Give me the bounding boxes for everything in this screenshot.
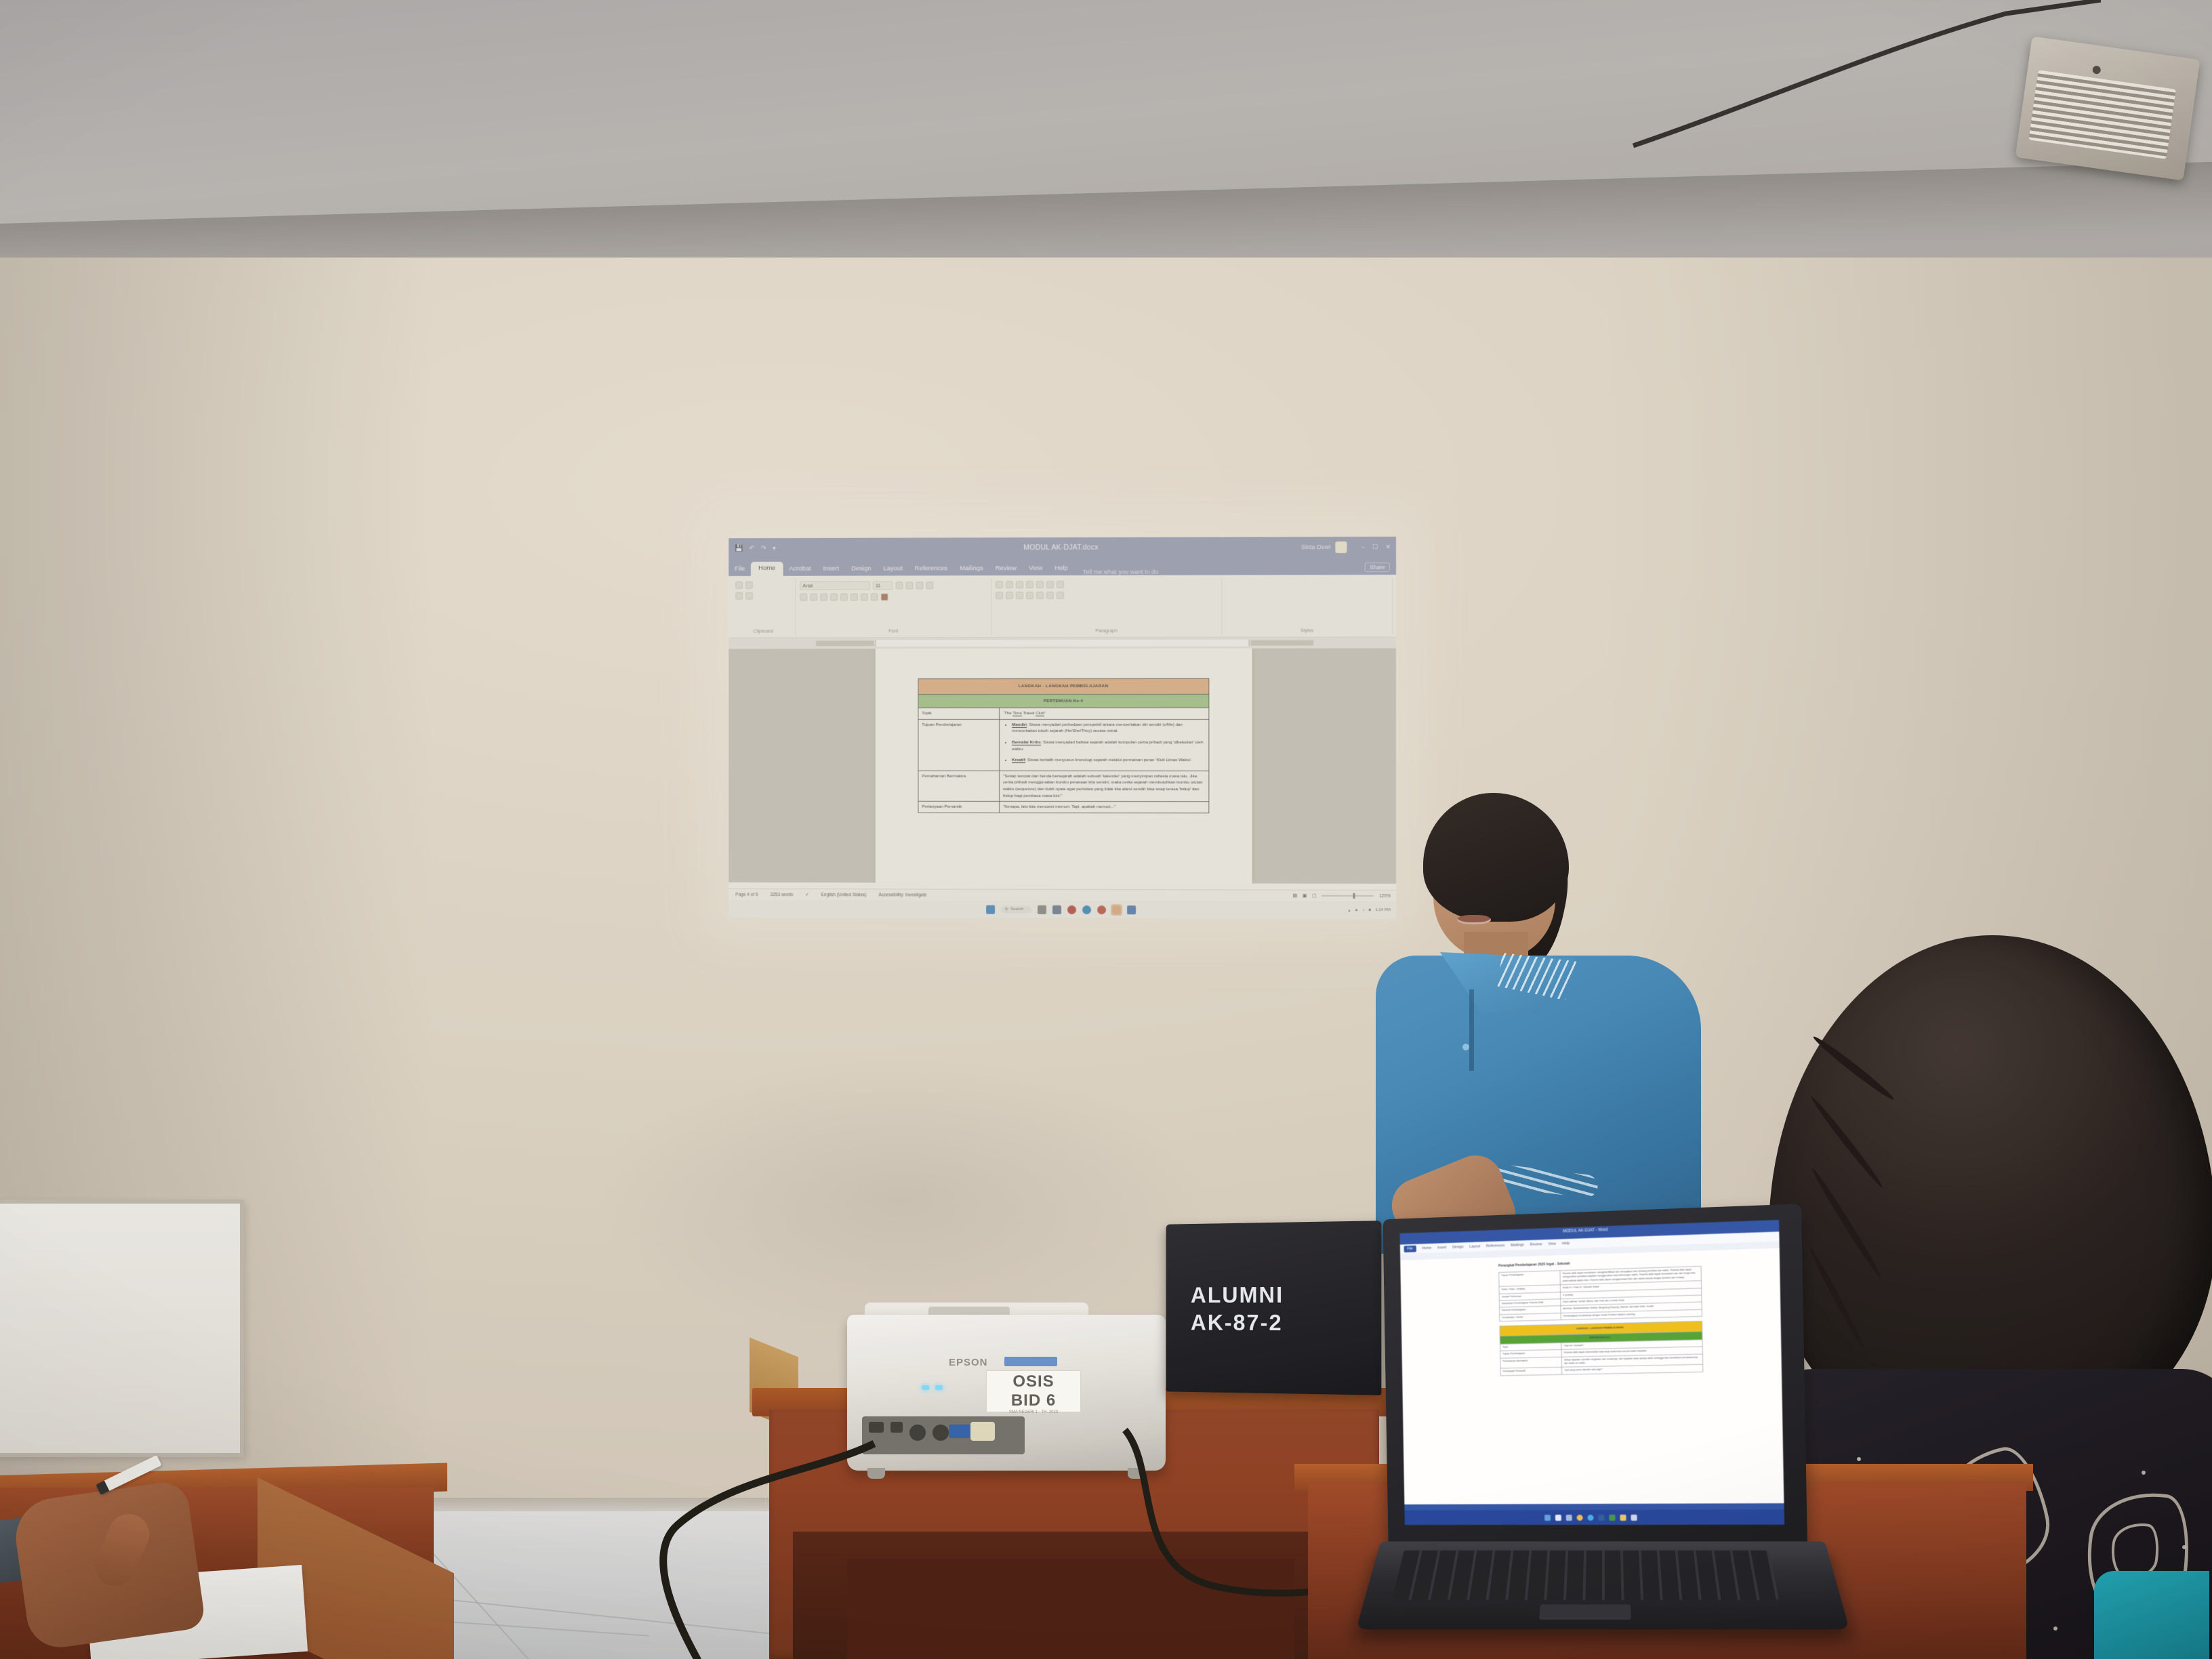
ls-label-2: Pemahaman Bermakna [1500,1357,1562,1368]
power-led-icon [922,1385,929,1390]
battery-icon[interactable]: ■ [1369,908,1372,912]
tab-acrobat[interactable]: Acrobat [783,563,817,576]
mouth [1457,915,1491,924]
table-row: Tujuan Pembelajaran Mandiri: Siswa menya… [918,719,1209,771]
laptop-tab-mailings[interactable]: Mailings [1511,1243,1524,1248]
projector-port-panel [862,1416,1025,1454]
language-indicator[interactable]: English (United States) [821,893,867,897]
laptop-tab-file[interactable]: File [1404,1246,1416,1252]
bullet-lead-1: Mandiri [1012,722,1027,728]
laptop-excel-icon[interactable] [1609,1514,1615,1520]
table-row: Topik “The Time Travel Club” [918,708,1209,720]
laptop-lid: MODUL AK-DJAT - Word File Home Insert De… [1382,1204,1807,1551]
close-icon[interactable]: ✕ [1385,543,1391,550]
laptop-word-icon[interactable] [1598,1514,1604,1520]
row-value-tujuan: Mandiri: Siswa menyadari perbedaan persp… [1000,719,1209,771]
laptop-chrome-icon[interactable] [1576,1515,1582,1521]
ribbon-tab-strip[interactable]: File Home Acrobat Insert Design Layout R… [729,557,1396,576]
desk-panel [847,1559,1294,1659]
vga-cable-plug [970,1422,995,1441]
tab-view[interactable]: View [1023,562,1048,575]
avatar[interactable] [1335,541,1347,552]
laptop-tab-review[interactable]: Review [1530,1242,1542,1247]
web-layout-icon[interactable]: ▢ [1312,893,1316,899]
search-placeholder: Search [1010,907,1023,912]
lesson-plan-table: LANGKAH - LANGKAH PEMBELAJARAN PERTEMUAN… [918,678,1209,813]
print-layout-icon[interactable]: ▣ [1303,893,1307,899]
shading-icon[interactable] [1046,592,1054,599]
ribbon-group-styles[interactable]: AaBbCcDNormal AaBbCcDNo Spac... AaBbCcHe… [1222,577,1393,635]
numbering-icon[interactable] [1006,581,1013,588]
word-count[interactable]: 3253 words [770,893,793,897]
window-controls[interactable]: – ☐ ✕ [1361,543,1391,550]
tab-design[interactable]: Design [845,563,877,576]
shirt-placket [1469,989,1474,1071]
header-langkah: LANGKAH - LANGKAH PEMBELAJARAN [918,678,1209,694]
closed-laptop-lid: ALUMNI AK-87-2 [1166,1221,1382,1395]
underline-icon[interactable] [820,594,827,601]
copy-icon[interactable] [735,592,743,600]
laptop-start-icon[interactable] [1544,1515,1551,1521]
decrease-indent-icon[interactable] [1026,581,1033,588]
tab-references[interactable]: References [909,562,954,575]
group-label-paragraph: Paragraph [991,629,1221,634]
search-input[interactable]: ⚲Search [1001,905,1031,913]
bullet-text-1: : Siswa menyadari perbedaan perspektif a… [1012,722,1183,734]
row-value-pemahaman: "Setiap tempat dan benda bersejarah adal… [1000,771,1209,802]
row-label-pemantik: Pertanyaan Pemantik [918,802,1000,813]
ls-label-3: Pertanyaan Pemantik [1500,1368,1562,1376]
row-label-tujuan: Tujuan Pembelajaran [918,719,1000,771]
tell-me-search[interactable]: Tell me what you want to do [1074,569,1158,575]
tab-file[interactable]: File [729,563,751,576]
explorer-icon[interactable] [1127,905,1136,914]
windows-taskbar[interactable]: ⚲Search ▴ ▲ ♪ ■ 1:24 PM [729,900,1396,919]
show-marks-icon[interactable] [1057,581,1064,588]
borders-icon[interactable] [1057,592,1064,599]
laptop-tab-view[interactable]: View [1548,1242,1556,1246]
text-effects-icon[interactable] [861,593,868,600]
format-painter-icon[interactable] [745,592,753,600]
font-size-box[interactable]: 11 [873,581,893,590]
row-value-pemantik: "Kenapa, lalu kita mencoret memori. Tapi… [1000,802,1209,813]
widgets-icon[interactable] [1052,905,1061,914]
align-center-icon[interactable] [1006,592,1013,599]
strikethrough-icon[interactable] [830,594,838,601]
horizontal-ruler[interactable] [729,637,1396,649]
bullet-text-3: : Siswa berlatih menyusun kronologi seja… [1025,758,1193,762]
align-left-icon[interactable] [996,592,1003,599]
laptop-task-view-icon[interactable] [1565,1515,1572,1521]
highlight-icon[interactable] [871,593,878,600]
subscript-icon[interactable] [840,594,848,601]
tab-layout[interactable]: Layout [877,562,908,575]
table-row: Pertanyaan Pemantik "Kenapa, lalu kita m… [918,802,1209,813]
asset-label-line1: OSIS [987,1371,1080,1390]
lt-label-0: Tujuan Pembelajaran [1499,1271,1561,1287]
table-row-header-orange: LANGKAH - LANGKAH PEMBELAJARAN [918,678,1209,694]
proofing-icon[interactable]: ✓ [805,892,808,897]
grow-font-icon[interactable] [896,581,903,589]
align-right-icon[interactable] [1016,592,1023,599]
font-name-box[interactable]: Arial [800,581,869,590]
tab-home[interactable]: Home [751,562,783,576]
task-view-icon[interactable] [1038,905,1046,914]
table-row-header-green: PERTEMUAN Ke-4 [918,694,1209,708]
bullet-lead-3: Kreatif [1012,758,1025,763]
projector-sticker [1004,1357,1057,1366]
change-case-icon[interactable] [916,581,923,589]
lt-label-5: Pendekatan / Model [1500,1313,1561,1322]
acrobat-icon[interactable] [1067,905,1076,914]
whiteboard [0,1200,244,1457]
ceiling-mounted-unit [2015,36,2200,180]
font-color-icon[interactable] [881,593,888,600]
document-title: MODUL AK-DJAT.docx [729,543,1396,552]
minimize-icon[interactable]: – [1361,543,1365,550]
laptop-settings-icon[interactable] [1631,1514,1637,1520]
laptop-taskbar[interactable] [1405,1509,1784,1525]
laptop-touchpad[interactable] [1539,1605,1631,1620]
projector-brand: EPSON [949,1357,988,1368]
laptop-keyboard[interactable] [1392,1551,1779,1600]
projector-asset-label: OSIS BID 6 SMA NEGERI 1 - TH. 2023 [986,1370,1081,1412]
laptop-explorer-icon[interactable] [1620,1514,1626,1520]
share-button[interactable]: Share [1365,562,1390,572]
lid-sticker: ALUMNI AK-87-2 [1191,1281,1284,1337]
search-icon: ⚲ [1005,907,1008,912]
teal-fabric-accent [2094,1571,2209,1659]
bold-icon[interactable] [800,594,807,601]
shirt-button [1462,1044,1469,1050]
word-title-bar: 💾 ↶ ↷ ▾ MODUL AK-DJAT.docx Sinta Dewi – … [729,537,1396,558]
laptop-table-top: Tujuan PembelajaranPeserta didik dapat m… [1498,1266,1702,1322]
document-page: LANGKAH - LANGKAH PEMBELAJARAN PERTEMUAN… [876,649,1252,884]
account-name[interactable]: Sinta Dewi [1301,544,1330,550]
ribbon-group-editing[interactable]: Find Replace Editing [1393,577,1396,635]
status-led-icon [935,1385,943,1390]
laptop-document-page: Perangkat Pembelajaran 2025 Ingat - Seko… [1400,1248,1784,1511]
laptop-search-icon[interactable] [1555,1515,1561,1521]
bullet-text-2: : Siswa menyadari bahwa sejarah adalah k… [1012,740,1203,752]
asset-label-sub: SMA NEGERI 1 - TH. 2023 [987,1410,1080,1414]
page-indicator[interactable]: Page 4 of 9 [735,892,758,897]
wall-stain [596,1057,1206,1342]
zoom-slider[interactable] [1322,895,1374,897]
open-laptop: MODUL AK-DJAT - Word File Home Insert De… [1380,1212,1814,1659]
superscript-icon[interactable] [851,594,858,601]
volume-icon[interactable]: ♪ [1363,908,1365,912]
bullet-lead-2: Bernalar Kritis [1012,740,1041,745]
multilevel-list-icon[interactable] [1016,581,1023,588]
laptop-table-bottom: LANGKAH - LANGKAH PEMBELAJARAN PERTEMUAN… [1499,1321,1703,1376]
increase-indent-icon[interactable] [1036,581,1044,588]
laptop-screen[interactable]: MODUL AK-DJAT - Word File Home Insert De… [1400,1220,1784,1525]
edge-icon[interactable] [1082,905,1091,914]
bullets-icon[interactable] [996,581,1003,588]
chevron-up-icon[interactable]: ▴ [1349,907,1351,912]
clear-formatting-icon[interactable] [926,581,933,589]
accessibility-indicator[interactable]: Accessibility: Investigate [878,893,926,897]
classroom-photo-scene: 💾 ↶ ↷ ▾ MODUL AK-DJAT.docx Sinta Dewi – … [0,0,2212,1659]
group-label-styles: Styles [1222,628,1392,633]
laptop-tab-references[interactable]: References [1486,1244,1505,1248]
ribbon[interactable]: Clipboard Arial 11 [729,575,1396,638]
italic-icon[interactable] [810,594,817,601]
lid-sticker-line2: AK-87-2 [1191,1309,1284,1336]
list-item: Bernalar Kritis: Siswa menyadari bahwa s… [1012,739,1205,752]
document-canvas[interactable]: LANGKAH - LANGKAH PEMBELAJARAN PERTEMUAN… [729,648,1396,883]
ribbon-group-font[interactable]: Arial 11 Fon [796,578,991,635]
line-spacing-icon[interactable] [1036,592,1044,599]
lid-sticker-line1: ALUMNI [1191,1281,1284,1309]
row-value-topik: “The Time Travel Club” [1000,708,1209,720]
projector-foot-right [1128,1468,1145,1479]
epson-projector: EPSON OSIS BID 6 SMA NEGERI 1 - TH. 2023 [847,1315,1166,1471]
header-pertemuan: PERTEMUAN Ke-4 [918,694,1209,708]
laptop-tab-design[interactable]: Design [1452,1245,1464,1249]
laptop-edge-icon[interactable] [1587,1515,1593,1521]
asset-label-line2: BID 6 [987,1390,1080,1409]
laptop-tab-layout[interactable]: Layout [1469,1244,1480,1248]
tab-mailings[interactable]: Mailings [954,562,989,575]
laptop-tab-help[interactable]: Help [1562,1242,1570,1246]
tab-review[interactable]: Review [989,562,1023,575]
paste-icon[interactable] [735,581,743,589]
start-icon[interactable] [986,905,995,914]
laptop-tab-home[interactable]: Home [1422,1246,1431,1250]
list-item: Mandiri: Siswa menyadari perbedaan persp… [1012,722,1205,735]
word-status-bar[interactable]: Page 4 of 9 3253 words ✓ English (United… [729,888,1396,901]
row-label-topik: Topik [918,708,1000,720]
projector-foot-left [867,1468,885,1479]
group-label-font: Font [796,629,991,634]
projected-screen: 💾 ↶ ↷ ▾ MODUL AK-DJAT.docx Sinta Dewi – … [729,537,1396,919]
group-label-clipboard: Clipboard [731,629,795,634]
sort-icon[interactable] [1046,581,1054,588]
shrink-font-icon[interactable] [906,581,914,589]
row-label-pemahaman: Pemahaman Bermakna [918,771,1000,801]
tab-insert[interactable]: Insert [817,563,846,576]
laptop-tab-insert[interactable]: Insert [1437,1246,1446,1250]
table-row: Pemahaman Bermakna "Setiap tempat dan be… [918,771,1209,802]
hair [1423,793,1569,922]
restore-icon[interactable]: ☐ [1372,543,1378,550]
ribbon-group-clipboard[interactable]: Clipboard [731,579,796,636]
read-mode-icon[interactable]: ▤ [1292,893,1296,899]
network-icon[interactable]: ▲ [1355,908,1359,912]
office-icon[interactable] [1097,905,1106,914]
ribbon-group-paragraph[interactable]: Paragraph [991,578,1222,636]
cut-icon[interactable] [745,581,753,589]
presenter-person [1382,786,1735,1247]
word-icon[interactable] [1112,905,1121,914]
laptop-base [1356,1541,1849,1629]
tab-help[interactable]: Help [1048,562,1074,575]
list-item: Kreatif: Siswa berlatih menyusun kronolo… [1012,757,1205,764]
justify-icon[interactable] [1026,592,1033,599]
group-label-editing: Editing [1393,628,1396,633]
